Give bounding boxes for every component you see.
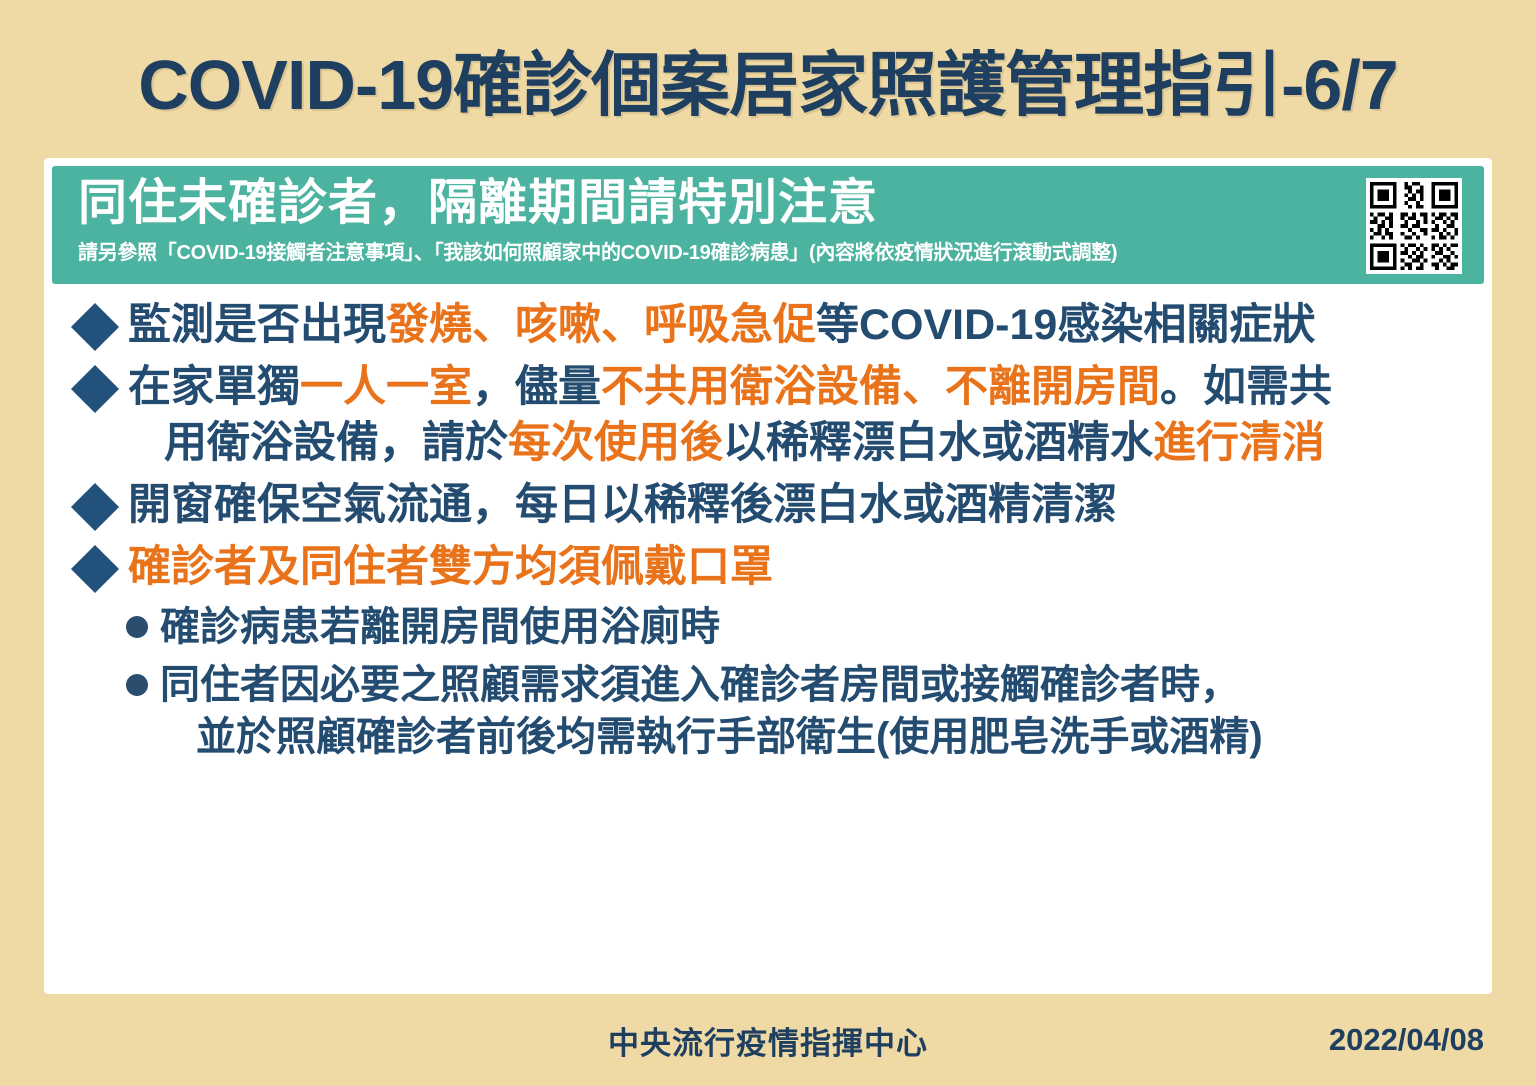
list-item-line: 用衛浴設備，請於每次使用後以稀釋漂白水或酒精水進行清消 xyxy=(128,416,1332,472)
footer-date: 2022/04/08 xyxy=(1329,1022,1484,1058)
qr-code-icon[interactable] xyxy=(1366,178,1462,274)
text-segment-highlight: 一人一室 xyxy=(300,363,472,411)
dot-bullet-icon xyxy=(126,674,148,696)
footer: 中央流行疫情指揮中心 2022/04/08 xyxy=(0,994,1536,1086)
footer-organization: 中央流行疫情指揮中心 xyxy=(608,1018,928,1063)
dot-bullet-icon xyxy=(126,616,148,638)
list-item-text: 開窗確保空氣流通，每日以稀釋後漂白水或酒精清潔 xyxy=(128,478,1117,534)
list-item-line: 並於照顧確診者前後均需執行手部衛生(使用肥皂洗手或酒精) xyxy=(160,711,1263,763)
text-segment: 等COVID-19感染相關症狀 xyxy=(816,301,1315,349)
list-item-line: 同住者因必要之照顧需求須進入確診者房間或接觸確診者時， xyxy=(160,659,1263,711)
list-item: 監測是否出現發燒、咳嗽、呼吸急促等COVID-19感染相關症狀 xyxy=(70,298,1466,354)
diamond-bullet-icon xyxy=(71,365,119,413)
text-segment-highlight: 發燒、咳嗽、呼吸急促 xyxy=(386,301,816,349)
highlight-banner: 同住未確診者，隔離期間請特別注意 請另參照「COVID-19接觸者注意事項」、「… xyxy=(52,166,1484,284)
text-segment: 用衛浴設備，請於 xyxy=(164,419,508,467)
list-item-line: 在家單獨一人一室，儘量不共用衛浴設備、不離開房間。如需共 xyxy=(128,360,1332,416)
diamond-bullet-icon xyxy=(71,483,119,531)
list-item-text: 在家單獨一人一室，儘量不共用衛浴設備、不離開房間。如需共 用衛浴設備，請於每次使… xyxy=(128,360,1332,472)
text-segment: ，儘量 xyxy=(472,363,601,411)
list-item: 確診病患若離開房間使用浴廁時 xyxy=(70,601,1466,653)
list-item-text: 確診病患若離開房間使用浴廁時 xyxy=(160,601,720,653)
content-card: 同住未確診者，隔離期間請特別注意 請另參照「COVID-19接觸者注意事項」、「… xyxy=(44,158,1492,994)
page-title: COVID-19確診個案居家照護管理指引-6/7 xyxy=(138,29,1397,130)
text-segment-highlight: 每次使用後 xyxy=(508,419,723,467)
banner-subtitle: 請另參照「COVID-19接觸者注意事項」、「我該如何照顧家中的COVID-19… xyxy=(78,236,1484,265)
text-segment: 。如需共 xyxy=(1160,363,1332,411)
list-item: 確診者及同住者雙方均須佩戴口罩 xyxy=(70,540,1466,596)
text-segment: 監測是否出現 xyxy=(128,301,386,349)
list-item: 開窗確保空氣流通，每日以稀釋後漂白水或酒精清潔 xyxy=(70,478,1466,534)
diamond-bullet-icon xyxy=(71,303,119,351)
text-segment: 以稀釋漂白水或酒精水 xyxy=(723,419,1153,467)
guidance-list: 監測是否出現發燒、咳嗽、呼吸急促等COVID-19感染相關症狀 在家單獨一人一室… xyxy=(44,284,1492,763)
list-item-text: 確診者及同住者雙方均須佩戴口罩 xyxy=(128,540,773,596)
text-segment-highlight: 不共用衛浴設備、不離開房間 xyxy=(601,363,1160,411)
banner-heading: 同住未確診者，隔離期間請特別注意 xyxy=(78,174,1484,234)
diamond-bullet-icon xyxy=(71,545,119,593)
text-segment-highlight: 進行清消 xyxy=(1153,419,1325,467)
list-item-text: 同住者因必要之照顧需求須進入確診者房間或接觸確診者時， 並於照顧確診者前後均需執… xyxy=(160,659,1263,763)
text-segment: 在家單獨 xyxy=(128,363,300,411)
title-bar: COVID-19確診個案居家照護管理指引-6/7 xyxy=(0,0,1536,158)
list-item: 同住者因必要之照顧需求須進入確診者房間或接觸確診者時， 並於照顧確診者前後均需執… xyxy=(70,659,1466,763)
poster-root: COVID-19確診個案居家照護管理指引-6/7 同住未確診者，隔離期間請特別注… xyxy=(0,0,1536,1086)
list-item-text: 監測是否出現發燒、咳嗽、呼吸急促等COVID-19感染相關症狀 xyxy=(128,298,1315,354)
list-item: 在家單獨一人一室，儘量不共用衛浴設備、不離開房間。如需共 用衛浴設備，請於每次使… xyxy=(70,360,1466,472)
